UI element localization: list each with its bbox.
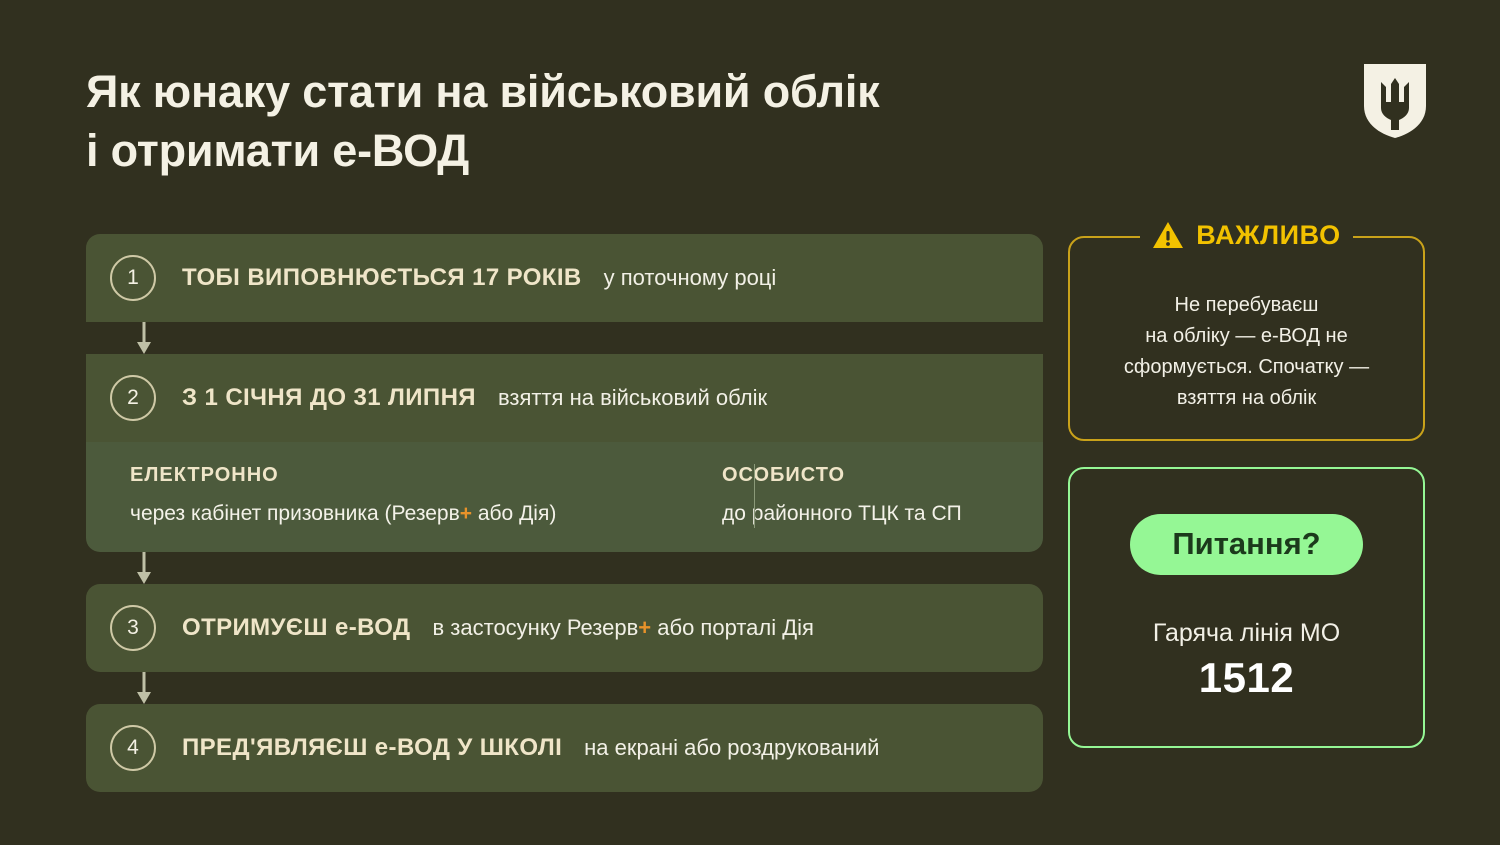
step-note-2: взяття на військовий облік <box>498 385 767 411</box>
important-body-line-4: взяття на облік <box>1086 383 1407 414</box>
step-row-1: 1 ТОБІ ВИПОВНЮЄТЬСЯ 17 РОКІВ у поточному… <box>86 234 1043 322</box>
page-header: Як юнаку стати на військовий облік і отр… <box>86 62 1186 181</box>
step-note-3: в застосунку Резерв+ або порталі Дія <box>433 615 814 641</box>
step-note-4: на екрані або роздрукований <box>584 735 879 761</box>
step-number-badge-1: 1 <box>110 255 156 301</box>
step-note-1: у поточному році <box>604 265 777 291</box>
method-electronic-heading: ЕЛЕКТРОННО <box>130 464 688 487</box>
hotline-card: Питання? Гаряча лінія МО 1512 <box>1068 467 1425 748</box>
method-in-person-text: до районного ТЦК та СП <box>722 502 962 526</box>
step-row-2: 2 З 1 СІЧНЯ ДО 31 ЛИПНЯ взяття на військ… <box>86 354 1043 442</box>
page-title-line-1: Як юнаку стати на військовий облік <box>86 62 1186 121</box>
flow-connector-2-to-3 <box>86 552 1043 584</box>
flow-connector-1-to-2 <box>86 322 1043 354</box>
step-number-badge-4: 4 <box>110 725 156 771</box>
important-body-line-2: на обліку — е-ВОД не <box>1086 321 1407 352</box>
ukraine-mod-trident-shield-emblem <box>1362 62 1428 140</box>
step-number-badge-2: 2 <box>110 375 156 421</box>
important-card-header: ВАЖЛИВО <box>1070 220 1423 251</box>
method-electronic-text: через кабінет призовника (Резерв+ або Ді… <box>130 502 688 526</box>
step-title-3: ОТРИМУЄШ е-ВОД <box>182 614 411 642</box>
step-note-3-post: або порталі Дія <box>651 615 814 640</box>
warning-triangle-icon <box>1152 221 1184 250</box>
method-electronic: ЕЛЕКТРОННО через кабінет призовника (Рез… <box>110 464 688 526</box>
method-electronic-text-post: або Дія) <box>472 502 556 525</box>
method-electronic-text-pre: через кабінет призовника (Резерв <box>130 502 460 525</box>
method-in-person-heading: ОСОБИСТО <box>722 464 962 487</box>
flow-connector-3-to-4 <box>86 672 1043 704</box>
step-title-1: ТОБІ ВИПОВНЮЄТЬСЯ 17 РОКІВ <box>182 264 582 292</box>
step-row-3: 3 ОТРИМУЄШ е-ВОД в застосунку Резерв+ аб… <box>86 584 1043 672</box>
reserve-plus-symbol-step3: + <box>638 615 651 640</box>
step-note-3-pre: в застосунку Резерв <box>433 615 639 640</box>
question-pill: Питання? <box>1130 514 1362 575</box>
page-title-line-2: і отримати е-ВОД <box>86 121 1186 180</box>
registration-methods-panel: ЕЛЕКТРОННО через кабінет призовника (Рез… <box>86 442 1043 552</box>
step-title-4: ПРЕД'ЯВЛЯЄШ е-ВОД У ШКОЛІ <box>182 734 562 762</box>
hotline-label: Гаряча лінія МО <box>1153 619 1340 648</box>
important-notice-card: ВАЖЛИВО Не перебуваєш на обліку — е-ВОД … <box>1068 236 1425 441</box>
important-body-line-3: сформується. Спочатку — <box>1086 352 1407 383</box>
method-in-person: ОСОБИСТО до районного ТЦК та СП <box>688 464 962 526</box>
important-body-text: Не перебуваєш на обліку — е-ВОД не сформ… <box>1086 290 1407 414</box>
methods-divider <box>754 464 755 528</box>
step-title-2: З 1 СІЧНЯ ДО 31 ЛИПНЯ <box>182 384 476 412</box>
step-number-badge-3: 3 <box>110 605 156 651</box>
steps-flow: 1 ТОБІ ВИПОВНЮЄТЬСЯ 17 РОКІВ у поточному… <box>86 234 1043 792</box>
reserve-plus-symbol-electronic: + <box>460 502 472 525</box>
infographic-page: Як юнаку стати на військовий облік і отр… <box>0 0 1500 845</box>
step-row-4: 4 ПРЕД'ЯВЛЯЄШ е-ВОД У ШКОЛІ на екрані аб… <box>86 704 1043 792</box>
important-label: ВАЖЛИВО <box>1196 220 1340 251</box>
hotline-number: 1512 <box>1199 654 1294 702</box>
important-body-line-1: Не перебуваєш <box>1086 290 1407 321</box>
